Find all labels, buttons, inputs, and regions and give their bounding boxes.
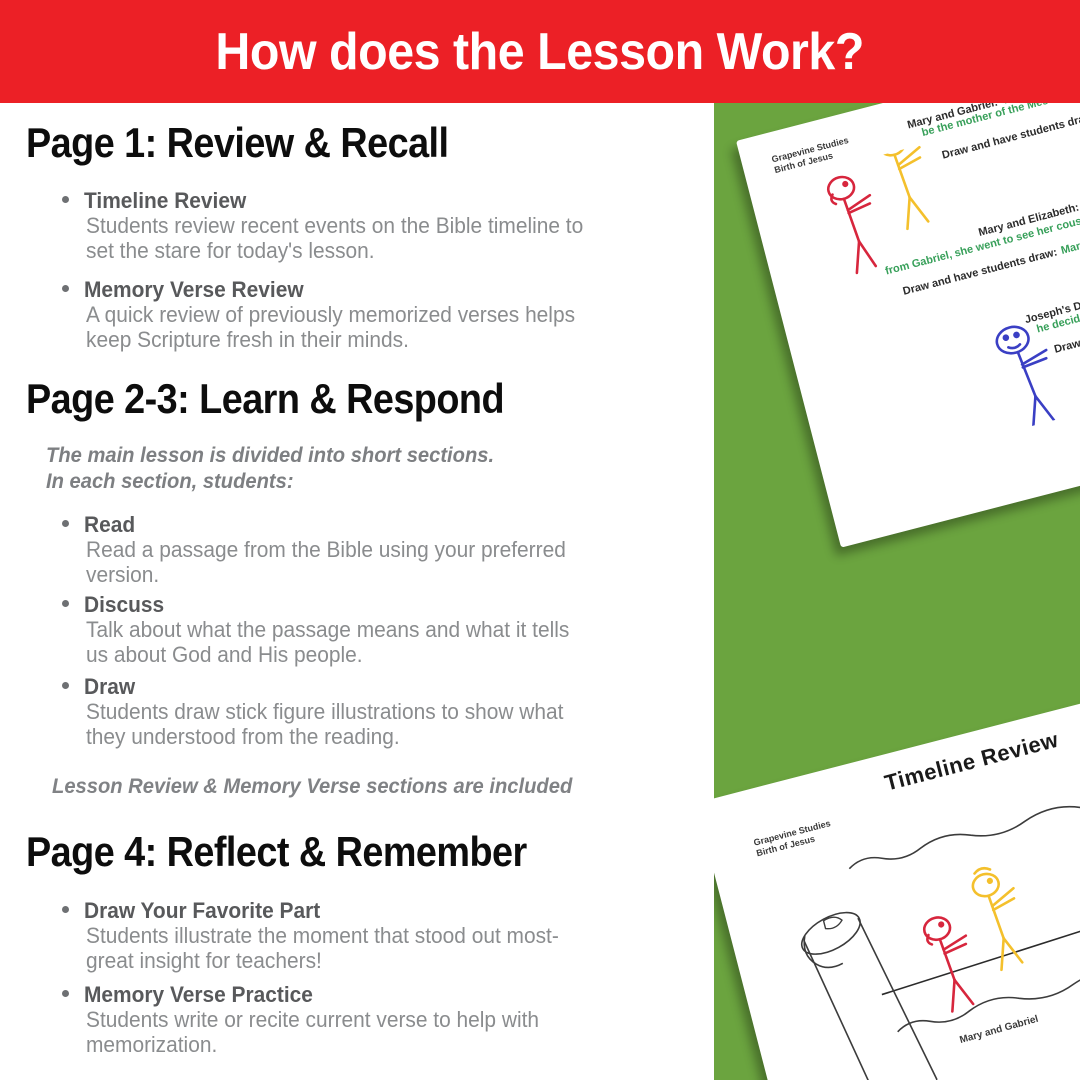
bullet-dot-icon: [62, 520, 69, 527]
list-item: Draw Your Favorite Part Students illustr…: [62, 899, 702, 973]
bullet-title: Memory Verse Review: [84, 278, 671, 302]
list-item: Draw Students draw stick figure illustra…: [62, 675, 702, 749]
bullet-description: A quick review of previously memorized v…: [86, 302, 671, 352]
bullet-title: Read: [84, 513, 671, 537]
page-title: How does the Lesson Work?: [216, 22, 864, 82]
header-banner: How does the Lesson Work?: [0, 0, 1080, 103]
list-item: Read Read a passage from the Bible using…: [62, 513, 702, 587]
list-item: Memory Verse Review A quick review of pr…: [62, 278, 702, 352]
stick-figure-joseph-blue: [994, 320, 1064, 431]
stick-figure-gabriel-yellow: [969, 862, 1033, 971]
section-heading-page-1: Page 1: Review & Recall: [26, 119, 448, 167]
student-worksheet: Grapevine Studies Birth of Jesus Timelin…: [714, 653, 1080, 1080]
stick-figure-mary-red: [922, 911, 984, 1013]
bullet-description: Students write or recite current verse t…: [86, 1007, 671, 1057]
bullet-description: Talk about what the passage means and wh…: [86, 617, 671, 667]
list-item: Timeline Review Students review recent e…: [62, 189, 702, 263]
bullet-title: Timeline Review: [84, 189, 671, 213]
worksheet-preview-panel: Grapevine Studies Birth of Jesus Mary an…: [714, 103, 1080, 1080]
bullet-dot-icon: [62, 196, 69, 203]
bullet-title: Discuss: [84, 593, 671, 617]
bullet-dot-icon: [62, 990, 69, 997]
stick-figure-mary-red: [826, 171, 888, 275]
list-item: Discuss Talk about what the passage mean…: [62, 593, 702, 667]
bullet-title: Draw Your Favorite Part: [84, 899, 671, 923]
bullet-title: Draw: [84, 675, 671, 699]
section-heading-page-2-3: Page 2-3: Learn & Respond: [26, 375, 504, 423]
infographic-page: How does the Lesson Work? Page 1: Review…: [0, 0, 1080, 1080]
bullet-description: Students draw stick figure illustrations…: [86, 699, 671, 749]
bullet-dot-icon: [62, 285, 69, 292]
bullet-dot-icon: [62, 682, 69, 689]
bullet-title: Memory Verse Practice: [84, 983, 671, 1007]
section-intro-text: The main lesson is divided into short se…: [46, 443, 494, 495]
section-heading-page-4: Page 4: Reflect & Remember: [26, 828, 527, 876]
lesson-breakdown-column: Page 1: Review & Recall Timeline Review …: [0, 103, 714, 1080]
section-note-text: Lesson Review & Memory Verse sections ar…: [52, 775, 572, 799]
teacher-guide-worksheet: Grapevine Studies Birth of Jesus Mary an…: [736, 103, 1080, 548]
bullet-description: Students review recent events on the Bib…: [86, 213, 671, 263]
bullet-description: Read a passage from the Bible using your…: [86, 537, 671, 587]
bullet-description: Students illustrate the moment that stoo…: [86, 923, 671, 973]
bullet-dot-icon: [62, 600, 69, 607]
list-item: Memory Verse Practice Students write or …: [62, 983, 702, 1057]
bullet-dot-icon: [62, 906, 69, 913]
